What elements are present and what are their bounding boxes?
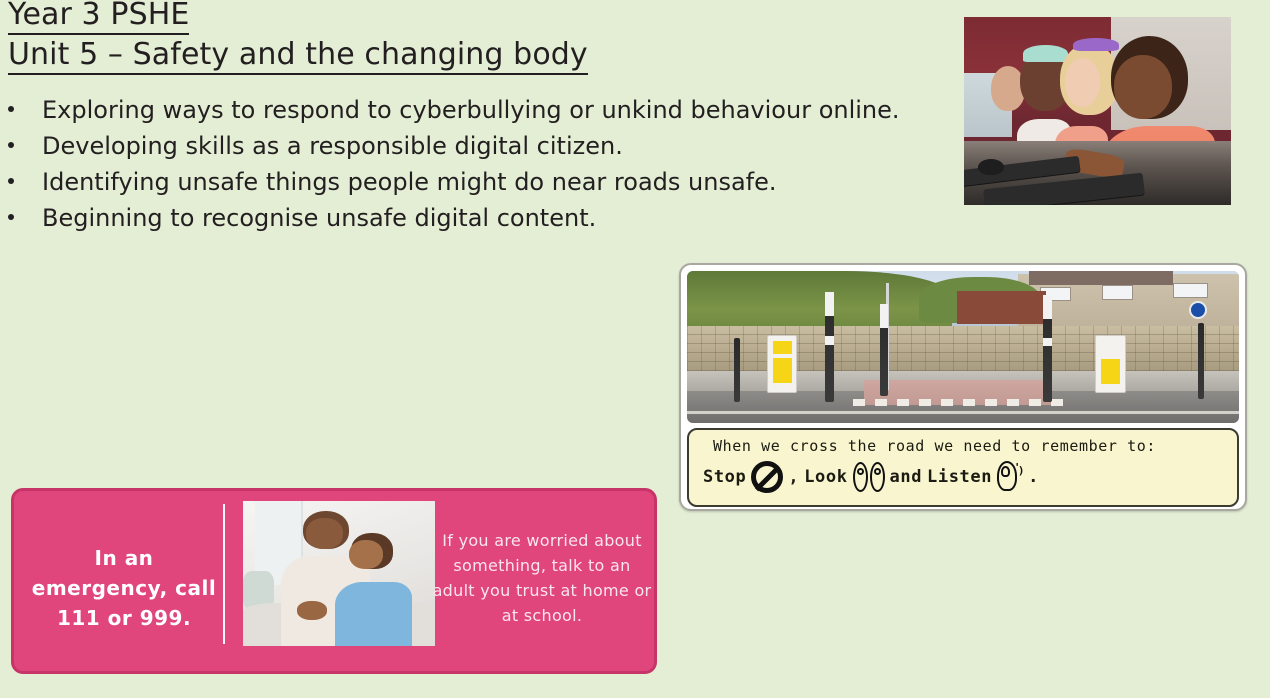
photo-bollard [825,292,834,401]
list-item-label: Identifying unsafe things people might d… [42,164,777,200]
ear-icon: ' ) [997,461,1023,493]
photo-bollard-band [880,304,888,328]
photo-adult-hand [297,601,328,620]
photo-child-body [335,582,412,646]
road-safety-block: When we cross the road we need to rememb… [679,263,1247,511]
photo-belisha-box-left [767,335,797,393]
photo-roof [1029,271,1173,285]
photo-bollard [1198,323,1204,399]
list-item-label: Exploring ways to respond to cyberbullyi… [42,92,900,128]
card-divider [223,504,225,644]
photo-bollard-band [1043,295,1052,318]
photo-bollard-band [1043,338,1052,347]
photo-window [1173,283,1208,299]
bullet-dot-icon [8,214,14,220]
learning-objectives-list: Exploring ways to respond to cyberbullyi… [0,92,940,236]
photo-adult-face [306,518,342,548]
photo-bollard [880,304,888,395]
list-item-label: Developing skills as a responsible digit… [42,128,623,164]
photo-yellow-panel [773,341,792,353]
photo-mouse [978,159,1004,175]
emergency-call-text: In an emergency, call 111 or 999. [28,543,220,633]
eyes-icon [853,462,885,492]
caption-period: . [1028,467,1039,487]
sound-wave-icon: ) [1018,465,1025,476]
photo-bollard [734,338,740,402]
photo-window [1102,285,1133,300]
photo-child-face [349,540,384,569]
photo-bollard-band [825,336,834,345]
list-item: Developing skills as a responsible digit… [0,128,940,164]
photo-bollard [1043,295,1052,401]
caption-word-and: and [890,467,923,487]
photo-shed [957,291,1045,324]
trusted-adult-advice-text: If you are worried about something, talk… [432,528,652,628]
ear-inner [1001,466,1010,477]
caption-comma: , [788,467,799,487]
caption-line-2: Stop , Look and Listen ' ) . [703,461,1227,493]
bullet-dot-icon [8,142,14,148]
classroom-computers-photo [964,17,1231,205]
bullet-dot-icon [8,178,14,184]
caption-word-look: Look [804,467,847,487]
caption-line-1: When we cross the road we need to rememb… [713,437,1227,455]
list-item: Beginning to recognise unsafe digital co… [0,200,940,236]
photo-zebra-stripes [853,399,1074,407]
page-title-line-1: Year 3 PSHE [8,0,189,35]
zebra-crossing-photo [687,271,1239,423]
caption-word-listen: Listen [927,467,992,487]
road-safety-caption: When we cross the road we need to rememb… [687,428,1239,507]
photo-child-face-4 [1114,55,1173,119]
caption-word-stop: Stop [703,467,746,487]
photo-yellow-panel [773,358,792,383]
photo-road-marking [687,411,1239,414]
slide-canvas: Year 3 PSHE Unit 5 – Safety and the chan… [0,0,1270,698]
list-item: Identifying unsafe things people might d… [0,164,940,200]
photo-bollard-band [825,292,834,316]
photo-child-headband [1023,45,1068,62]
page-title-line-2: Unit 5 – Safety and the changing body [8,38,588,75]
photo-yellow-panel [1101,359,1120,384]
eye-left-icon [853,462,868,492]
eye-right-icon [870,462,885,492]
list-item-label: Beginning to recognise unsafe digital co… [42,200,596,236]
photo-child-hairband [1073,38,1118,51]
adult-and-child-photo [243,501,435,646]
stop-sign-icon [751,461,783,493]
bullet-dot-icon [8,106,14,112]
photo-belisha-box-right [1095,335,1125,393]
list-item: Exploring ways to respond to cyberbullyi… [0,92,940,128]
